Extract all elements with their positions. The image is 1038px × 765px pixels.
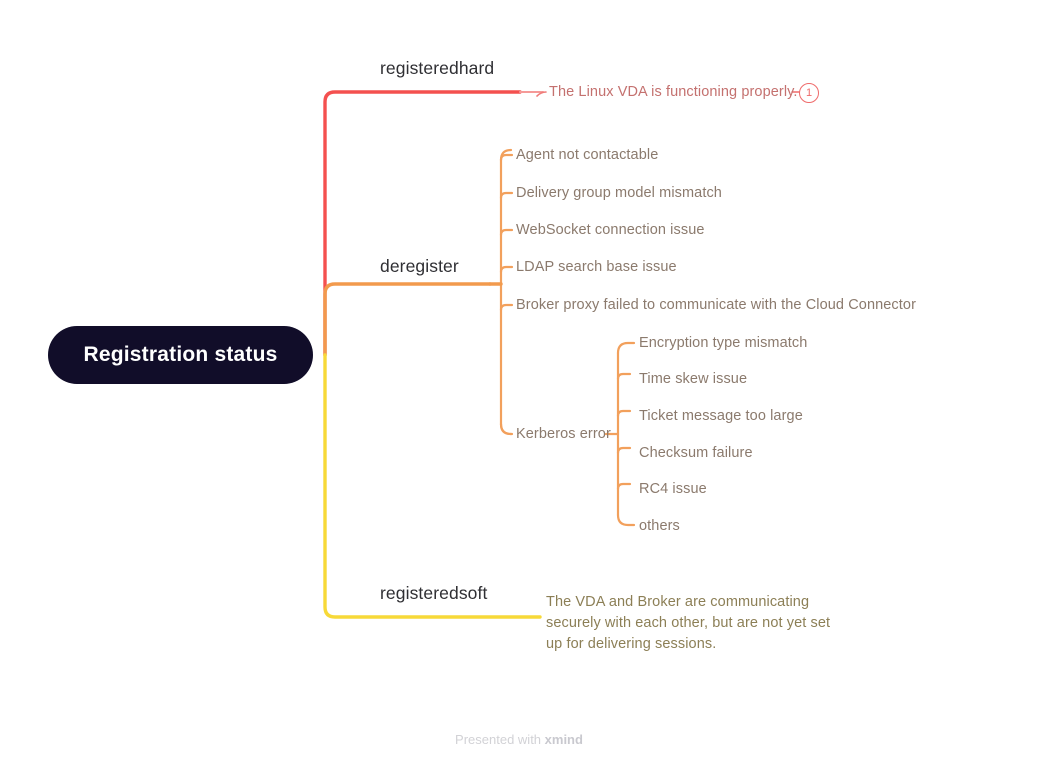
footer-prefix: Presented with (455, 732, 545, 747)
leaf-websocket-connection-issue[interactable]: WebSocket connection issue (516, 222, 705, 239)
root-node-label: Registration status (84, 343, 278, 367)
leaf-rc4-issue[interactable]: RC4 issue (639, 481, 707, 498)
branch-label-deregister[interactable]: deregister (380, 256, 459, 277)
leaf-broker-proxy-failed[interactable]: Broker proxy failed to communicate with … (516, 297, 916, 314)
leaf-ldap-search-base-issue[interactable]: LDAP search base issue (516, 259, 677, 276)
leaf-linux-vda-functioning[interactable]: The Linux VDA is functioning properly. (549, 84, 798, 101)
leaf-checksum-failure[interactable]: Checksum failure (639, 445, 753, 462)
leaf-encryption-type-mismatch[interactable]: Encryption type mismatch (639, 335, 807, 352)
leaf-kerberos-error[interactable]: Kerberos error (516, 426, 611, 443)
branch-label-registeredhard[interactable]: registeredhard (380, 58, 494, 79)
leaf-delivery-group-model-mismatch[interactable]: Delivery group model mismatch (516, 185, 722, 202)
leaf-ticket-message-too-large[interactable]: Ticket message too large (639, 408, 803, 425)
leaf-others[interactable]: others (639, 518, 680, 535)
footer: Presented with xmind (0, 732, 1038, 747)
collapsed-children-badge[interactable]: 1 (799, 83, 819, 103)
leaf-vda-broker-communicating[interactable]: The VDA and Broker are communicating sec… (546, 592, 836, 655)
branch-label-registeredsoft[interactable]: registeredsoft (380, 583, 487, 604)
leaf-time-skew-issue[interactable]: Time skew issue (639, 371, 747, 388)
mindmap-canvas: Registration status registeredhard dereg… (0, 0, 1038, 765)
leaf-agent-not-contactable[interactable]: Agent not contactable (516, 147, 658, 164)
footer-brand: xmind (545, 732, 583, 747)
root-node[interactable]: Registration status (48, 326, 313, 384)
